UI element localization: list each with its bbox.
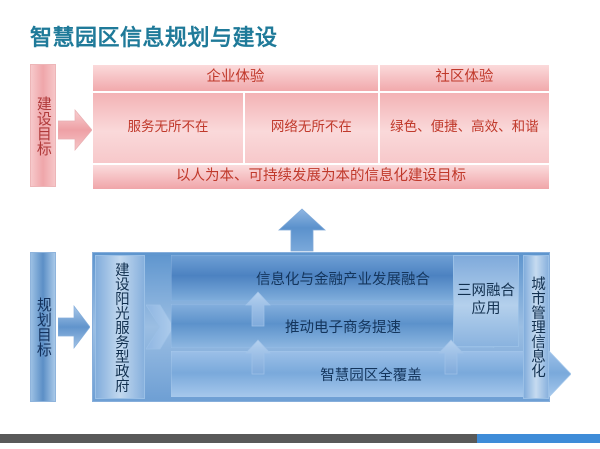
experience-table: 企业体验 社区体验 服务无所不在 网络无所不在 绿色、便捷、高效、和谐 以人为本… (92, 64, 550, 190)
cell-service-everywhere: 服务无所不在 (92, 92, 244, 164)
table-body-row: 服务无所不在 网络无所不在 绿色、便捷、高效、和谐 (92, 92, 550, 164)
construction-goal-section: 建设目标 企业体验 社区体验 服务无所不在 网络无所不在 绿色、便捷、高效、和谐 (0, 60, 600, 208)
planning-goal-section: 规划目标 建设阳光服务型政府 (0, 252, 600, 404)
arrow-up-icon (438, 339, 464, 375)
city-management-label: 城市管理信息化 (528, 276, 544, 378)
cell-people-oriented-goal: 以人为本、可持续发展为本的信息化建设目标 (92, 164, 550, 190)
table-footer-row: 以人为本、可持续发展为本的信息化建设目标 (92, 164, 550, 190)
progress-fill (477, 434, 600, 443)
initiative-bar-1-label: 信息化与金融产业发展融合 (256, 268, 430, 289)
table-header-community: 社区体验 (379, 64, 550, 92)
construction-goal-label: 建设目标 (30, 64, 56, 187)
chevron-right-icon (146, 301, 174, 353)
sunshine-government-label: 建设阳光服务型政府 (111, 258, 129, 396)
initiatives-panel: 建设阳光服务型政府 (92, 252, 550, 402)
table-header-row: 企业体验 社区体验 (92, 64, 550, 92)
cell-network-everywhere: 网络无所不在 (244, 92, 379, 164)
initiative-bar-3-label: 智慧园区全覆盖 (320, 364, 422, 385)
city-management-box: 城市管理信息化 (523, 255, 549, 399)
sunshine-government-box: 建设阳光服务型政府 (95, 255, 145, 399)
initiative-bar-2-label: 推动电子商务提速 (285, 316, 401, 337)
triple-network-box: 三网融合应用 (453, 255, 519, 347)
table-header-enterprise: 企业体验 (92, 64, 379, 92)
arrow-up-icon (245, 291, 271, 327)
slide-canvas: 智慧园区信息规划与建设 建设目标 企业体验 社区体验 服务无所不在 网络无所不在 (0, 0, 600, 449)
slide-progress-bar[interactable] (0, 434, 600, 443)
initiative-bar-3: 智慧园区全覆盖 (171, 351, 571, 397)
arrow-right-icon (58, 304, 90, 350)
arrow-right-icon (58, 108, 92, 152)
planning-goal-label: 规划目标 (30, 252, 56, 402)
arrow-up-icon (278, 208, 326, 252)
cell-green-convenient: 绿色、便捷、高效、和谐 (379, 92, 550, 164)
page-title: 智慧园区信息规划与建设 (30, 20, 278, 52)
arrow-up-icon (245, 339, 271, 375)
